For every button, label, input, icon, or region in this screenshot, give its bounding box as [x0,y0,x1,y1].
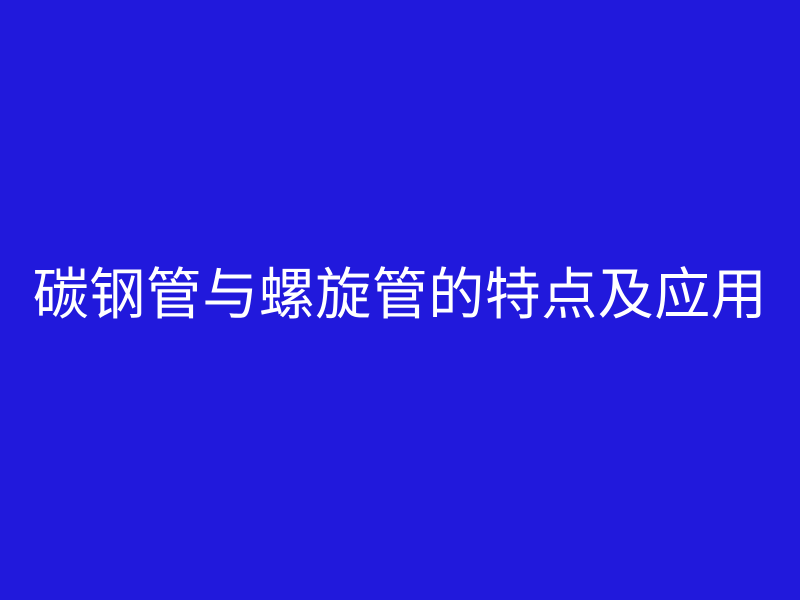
page-title: 碳钢管与螺旋管的特点及应用 [30,268,770,324]
slide-canvas: 碳钢管与螺旋管的特点及应用 [0,0,800,600]
headline-container: 碳钢管与螺旋管的特点及应用 [0,268,800,324]
